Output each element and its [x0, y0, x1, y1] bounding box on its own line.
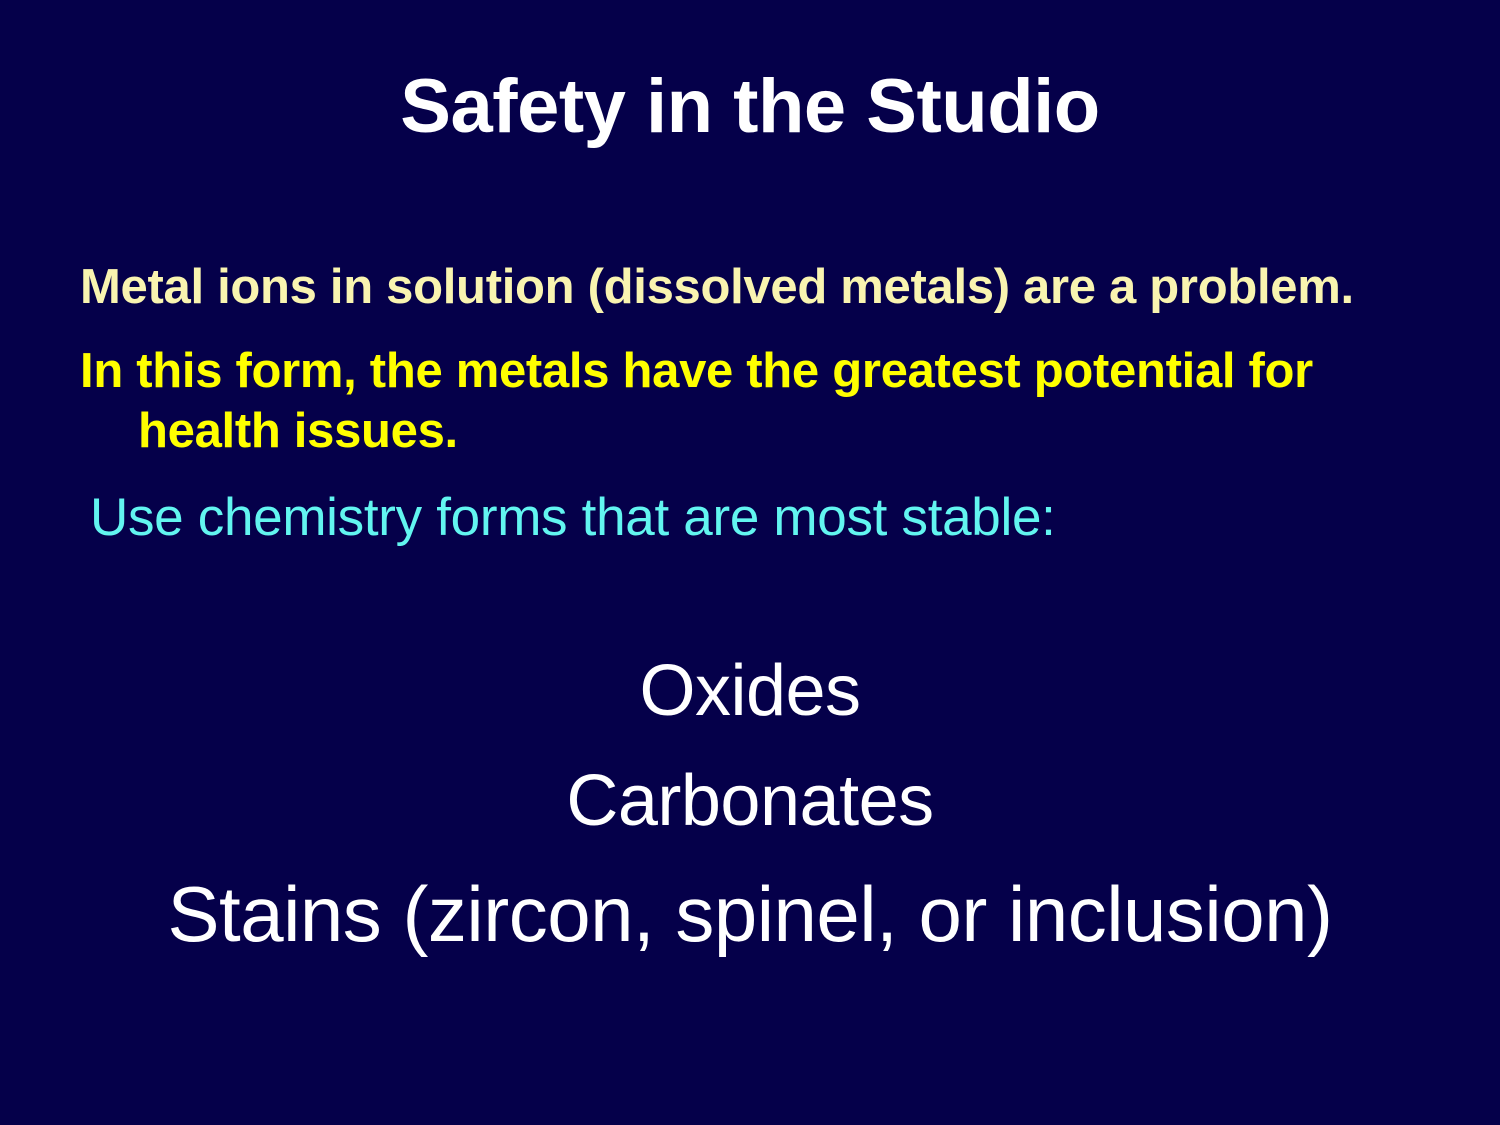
slide-title: Safety in the Studio — [0, 66, 1500, 148]
list-item-oxides: Oxides — [0, 655, 1500, 727]
body-paragraph-stable-forms-heading: Use chemistry forms that are most stable… — [80, 487, 1420, 550]
body-paragraph-health-issues: In this form, the metals have the greate… — [80, 342, 1420, 462]
stable-forms-list: Oxides Carbonates Stains (zircon, spinel… — [0, 655, 1500, 953]
body-paragraph-metal-ions: Metal ions in solution (dissolved metals… — [80, 258, 1420, 318]
list-item-stains: Stains (zircon, spinel, or inclusion) — [0, 875, 1500, 953]
slide-body-text: Metal ions in solution (dissolved metals… — [80, 258, 1420, 554]
list-item-carbonates: Carbonates — [0, 765, 1500, 837]
presentation-slide: Safety in the Studio Metal ions in solut… — [0, 0, 1500, 1125]
